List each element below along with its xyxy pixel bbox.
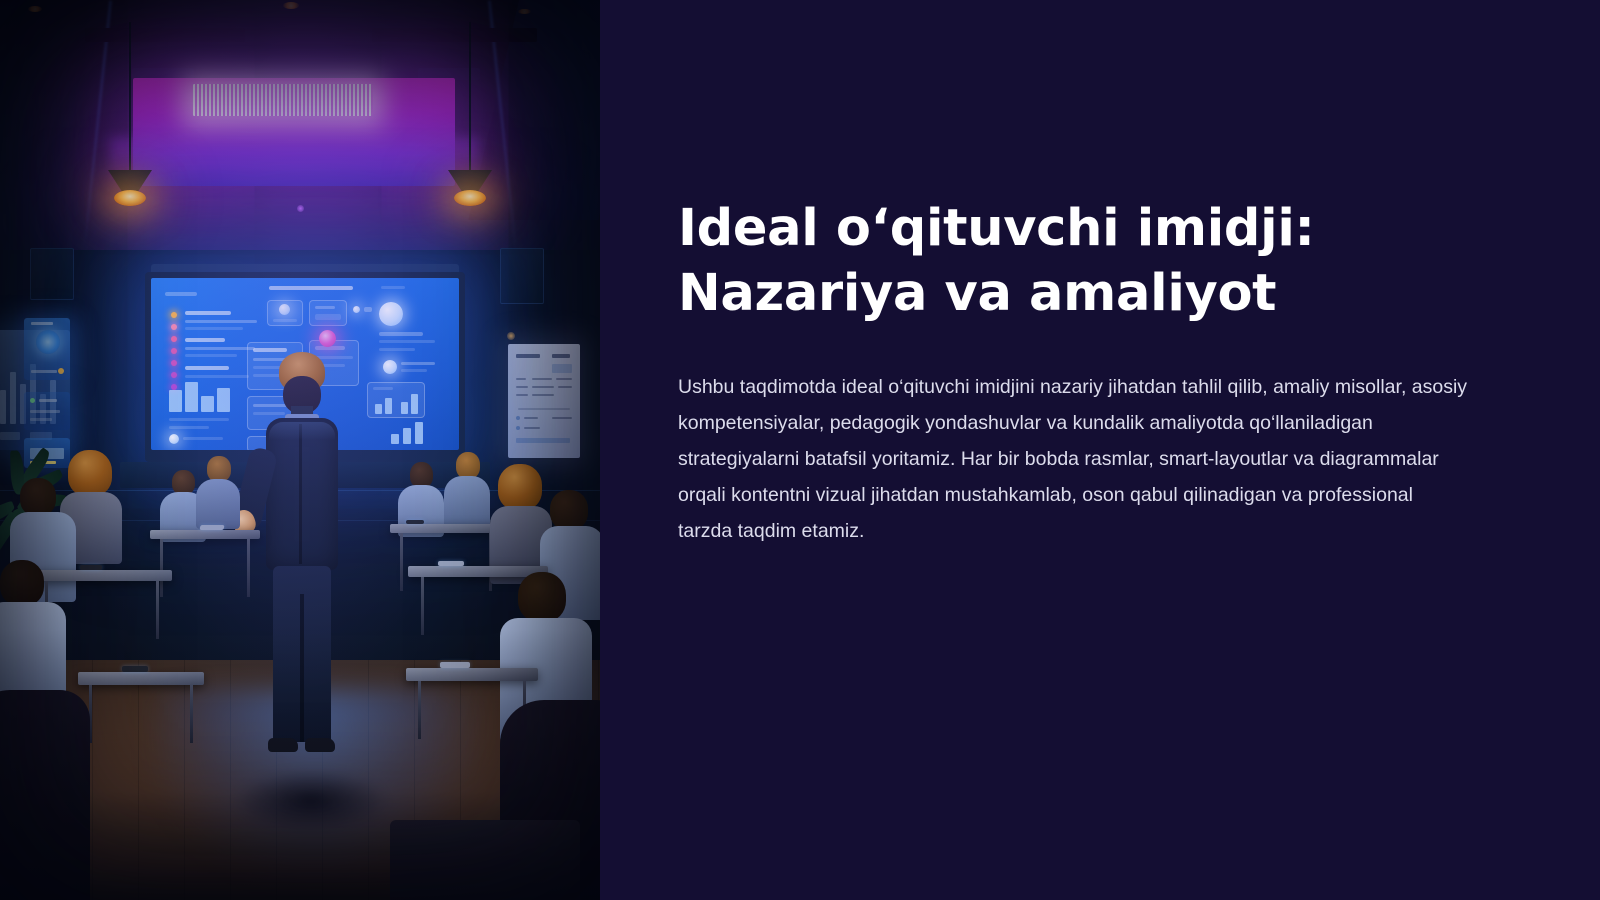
pendant-bulb xyxy=(114,190,146,206)
poster-heading xyxy=(552,354,570,358)
ceiling xyxy=(0,0,600,270)
student-body xyxy=(444,476,490,530)
presenter-figure xyxy=(255,352,350,792)
wall-frame-left xyxy=(30,248,74,300)
panel-line xyxy=(31,322,53,325)
phone-on-desk xyxy=(406,520,424,524)
pendant-cord xyxy=(129,22,131,172)
screen-avatar-circle xyxy=(383,360,397,374)
poster-mark xyxy=(552,364,572,373)
screen-timeline-dot xyxy=(171,312,177,318)
wall-indicator-icon xyxy=(297,205,304,212)
phone-on-desk xyxy=(80,565,102,570)
screen-text-line xyxy=(401,362,435,365)
wall-frame-right xyxy=(500,248,544,304)
screen-text-line xyxy=(185,311,231,315)
screen-text-line xyxy=(185,320,257,323)
poster-line xyxy=(524,417,538,419)
wall-indicator-icon xyxy=(507,332,515,340)
screen-chart-bar xyxy=(169,390,182,412)
student-body xyxy=(196,479,240,529)
poster-line xyxy=(558,386,572,388)
wall-chart-bar xyxy=(10,372,16,424)
screen-title-bar xyxy=(269,286,353,290)
poster-heading xyxy=(516,354,540,358)
tablet-on-desk xyxy=(199,525,224,530)
presenter-shoe xyxy=(305,738,335,752)
foreground-student-silhouette xyxy=(0,690,90,900)
poster-line xyxy=(556,378,572,380)
panel-status-dot xyxy=(58,368,64,374)
poster-line xyxy=(532,386,554,388)
poster-bullet xyxy=(516,426,520,430)
student-body xyxy=(0,690,90,900)
screen-chart-title xyxy=(373,387,393,390)
screen-chart-axis xyxy=(169,418,229,421)
student-figure xyxy=(196,456,240,528)
wall-panel-radar xyxy=(24,318,70,380)
ceiling-beam xyxy=(85,28,245,42)
screen-timeline-dot xyxy=(171,324,177,330)
student-figure xyxy=(444,452,490,528)
student-head xyxy=(0,560,44,606)
screen-timeline-dot xyxy=(171,372,177,378)
screen-chart-bar xyxy=(411,394,418,414)
slide-body-text: Ushbu taqdimotda ideal o‘qituvchi imidji… xyxy=(678,369,1468,549)
presenter-shoulder-highlight xyxy=(269,422,335,440)
poster-line xyxy=(532,394,554,396)
pendant-cord xyxy=(469,22,471,172)
desk xyxy=(406,668,538,681)
screen-text-line xyxy=(379,348,415,351)
device-on-desk xyxy=(122,666,148,672)
panel-line xyxy=(39,399,57,402)
poster-line xyxy=(532,378,552,380)
wall-panel-stats xyxy=(24,392,70,430)
classroom-photo xyxy=(0,0,600,900)
poster-bullet xyxy=(516,416,520,420)
screen-chart-bar xyxy=(375,404,382,414)
wall-chart-label xyxy=(0,432,20,440)
radar-icon xyxy=(36,330,60,354)
desk xyxy=(150,530,260,539)
screen-text-line xyxy=(183,437,223,440)
slide-content: Ideal o‘qituvchi imidji: Nazariya va ama… xyxy=(600,0,1600,900)
student-head xyxy=(456,452,480,479)
ceiling-light-core xyxy=(193,84,373,116)
screen-timeline-dot xyxy=(171,360,177,366)
desk xyxy=(390,524,502,533)
poster-line xyxy=(524,427,540,429)
presenter-trousers xyxy=(273,566,331,742)
screen-text-line xyxy=(401,369,427,372)
screen-text-line xyxy=(185,366,229,370)
student-head xyxy=(518,572,566,622)
poster-line xyxy=(516,386,528,388)
screen-text-line xyxy=(379,340,435,343)
foreground-desk-silhouette xyxy=(390,820,580,900)
screen-chart-bar xyxy=(185,382,198,412)
screen-widget-label xyxy=(273,319,297,322)
poster-line xyxy=(552,417,572,419)
screen-chart-bar xyxy=(415,422,423,444)
screen-text-line xyxy=(379,332,423,336)
slide-title: Ideal o‘qituvchi imidji: Nazariya va ama… xyxy=(678,196,1318,327)
wall-chart-bar xyxy=(0,390,6,424)
panel-line xyxy=(30,418,52,421)
screen-chart-bar xyxy=(391,434,399,444)
presenter-suit-jacket xyxy=(266,418,338,570)
panel-line xyxy=(30,410,60,413)
screen-chart-bar xyxy=(385,398,392,414)
screen-text-line xyxy=(185,338,225,342)
presentation-slide: Ideal o‘qituvchi imidji: Nazariya va ama… xyxy=(0,0,1600,900)
ceiling-beam xyxy=(372,28,537,42)
screen-chart-bar xyxy=(403,428,411,444)
screen-dot-icon xyxy=(353,306,360,313)
screen-chart-bar xyxy=(401,402,408,414)
screen-avatar-circle xyxy=(279,304,290,315)
presenter-shoe xyxy=(268,738,298,752)
poster-footer xyxy=(516,438,570,443)
screen-highlight-circle xyxy=(319,330,336,347)
panel-line xyxy=(31,370,57,373)
screen-avatar-circle xyxy=(169,434,179,444)
screen-top-bar xyxy=(151,264,459,272)
ceiling-spot-icon xyxy=(283,2,299,9)
student-head xyxy=(20,478,56,516)
notebook-on-desk xyxy=(438,561,464,566)
screen-chart-bar xyxy=(217,388,230,412)
panel-status-dot xyxy=(30,398,35,403)
wall-poster-document xyxy=(508,344,580,458)
screen-text-line xyxy=(185,347,255,350)
desk-surface xyxy=(390,820,580,900)
screen-avatar-large xyxy=(379,302,403,326)
screen-timeline-dot xyxy=(171,348,177,354)
student-head xyxy=(550,490,588,530)
screen-widget-value xyxy=(315,314,341,320)
poster-line xyxy=(516,394,528,396)
screen-dot-icon xyxy=(364,307,372,312)
screen-chart-bar xyxy=(201,396,214,412)
ceiling-light-panel xyxy=(133,78,455,186)
screen-text-line xyxy=(185,354,237,357)
screen-meta xyxy=(381,286,405,289)
desk xyxy=(78,672,204,685)
poster-line xyxy=(518,408,570,410)
ceiling-spot-icon xyxy=(518,9,531,14)
screen-text-line xyxy=(185,375,249,378)
screen-timeline-dot xyxy=(171,336,177,342)
screen-widget xyxy=(309,300,347,326)
notebook-on-desk xyxy=(440,662,470,668)
student-head xyxy=(498,464,542,510)
screen-chart-label xyxy=(169,426,209,429)
poster-line xyxy=(516,378,526,380)
pendant-bulb xyxy=(454,190,486,206)
screen-label xyxy=(165,292,197,296)
screen-text-line xyxy=(185,327,243,330)
ceiling-spot-icon xyxy=(28,6,42,12)
screen-widget-label xyxy=(315,306,335,309)
